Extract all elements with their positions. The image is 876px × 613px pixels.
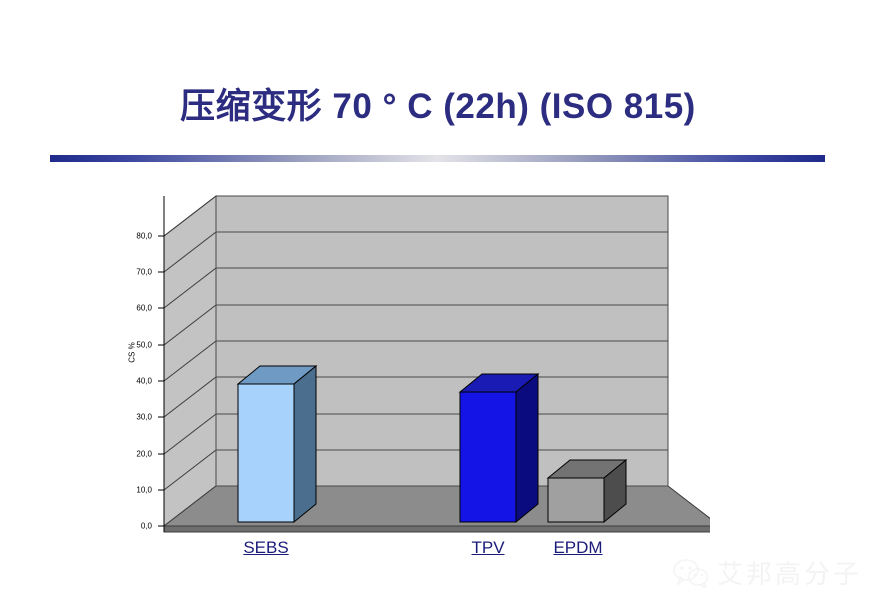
chart-floor: [164, 486, 710, 526]
y-tick-label-30: 30,0: [114, 413, 152, 422]
bar-tpv[interactable]: [460, 374, 538, 522]
x-category-label-sebs[interactable]: SEBS: [218, 538, 314, 558]
bar-epdm[interactable]: [548, 460, 626, 522]
y-tick-label-60: 60,0: [114, 304, 152, 313]
bar-tpv-top: [460, 374, 538, 392]
y-tick-label-80: 80,0: [114, 232, 152, 241]
bar-chart: 0,0 10,0 20,0 30,0 40,0 50,0 60,0 70,0 8…: [150, 188, 710, 540]
wechat-icon: [673, 558, 709, 588]
bar-tpv-front: [460, 392, 516, 522]
watermark: 艾邦高分子: [673, 554, 862, 591]
x-category-label-epdm[interactable]: EPDM: [530, 538, 626, 558]
bar-epdm-front: [548, 478, 604, 522]
x-category-label-tpv[interactable]: TPV: [442, 538, 534, 558]
bar-tpv-side: [516, 374, 538, 522]
y-tick-label-10: 10,0: [114, 486, 152, 495]
chart-back-wall: [216, 196, 668, 486]
bar-sebs-side: [294, 366, 316, 522]
bar-epdm-top: [548, 460, 626, 478]
bar-sebs-top: [238, 366, 316, 384]
y-tick-label-70: 70,0: [114, 268, 152, 277]
y-axis-title: CS %: [128, 342, 137, 362]
y-tick-label-40: 40,0: [114, 377, 152, 386]
chart-3d-walls: [150, 188, 710, 540]
page-title: 压缩变形 70 ° C (22h) (ISO 815): [0, 88, 876, 127]
chart-depth-lines: [164, 196, 216, 526]
bar-sebs-front: [238, 384, 294, 522]
title-divider: [50, 155, 825, 162]
watermark-text: 艾邦高分子: [717, 554, 862, 591]
y-tick-label-20: 20,0: [114, 450, 152, 459]
slide-canvas: 压缩变形 70 ° C (22h) (ISO 815): [0, 0, 876, 613]
bar-epdm-side: [604, 460, 626, 522]
y-axis-ticks: [158, 236, 164, 526]
chart-floor-edge: [164, 526, 710, 532]
chart-side-wall: [164, 196, 216, 526]
bar-sebs[interactable]: [238, 366, 316, 522]
y-tick-label-0: 0,0: [114, 522, 152, 531]
chart-gridlines: [216, 232, 668, 450]
